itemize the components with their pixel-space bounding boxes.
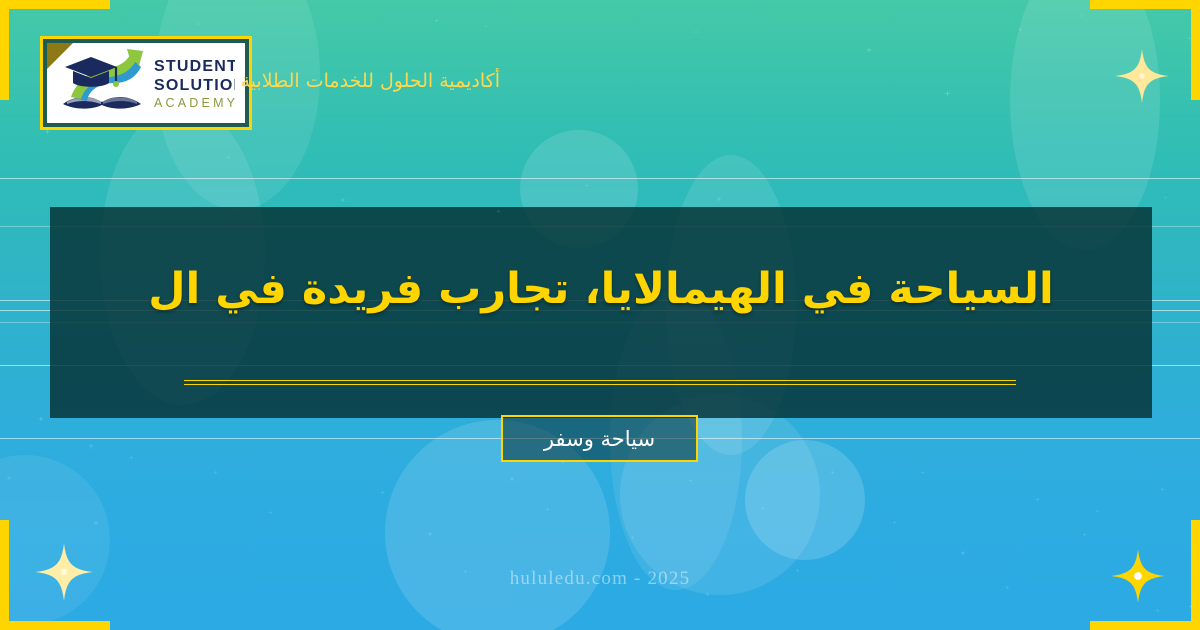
poster-canvas: السياحة في الهيمالايا، تجارب فريدة في ال…: [0, 0, 1200, 630]
svg-text:SOLUTIONS: SOLUTIONS: [154, 77, 235, 94]
title-panel: السياحة في الهيمالايا، تجارب فريدة في ال: [50, 207, 1152, 418]
student-solutions-academy-logo-icon: STUDENT SOLUTIONS ACADEMY: [57, 47, 235, 119]
brand-name: أكاديمية الحلول للخدمات الطلابية: [241, 70, 501, 92]
decor-circle: [745, 440, 865, 560]
divider-line: [0, 178, 1200, 179]
footer-text: hululedu.com - 2025: [0, 568, 1200, 590]
logo-inner: STUDENT SOLUTIONS ACADEMY: [47, 43, 245, 123]
title-underline: [184, 380, 1016, 385]
category-badge-label: سياحة وسفر: [544, 427, 655, 451]
corner-frame-top-right: [1090, 0, 1200, 100]
category-badge[interactable]: سياحة وسفر: [501, 415, 698, 462]
page-title: السياحة في الهيمالايا، تجارب فريدة في ال: [50, 263, 1152, 317]
svg-text:STUDENT: STUDENT: [154, 58, 235, 75]
sparkle-icon: [1114, 48, 1170, 104]
decor-circle: [0, 455, 110, 625]
svg-text:ACADEMY: ACADEMY: [154, 96, 235, 110]
logo-frame[interactable]: STUDENT SOLUTIONS ACADEMY: [40, 36, 252, 130]
